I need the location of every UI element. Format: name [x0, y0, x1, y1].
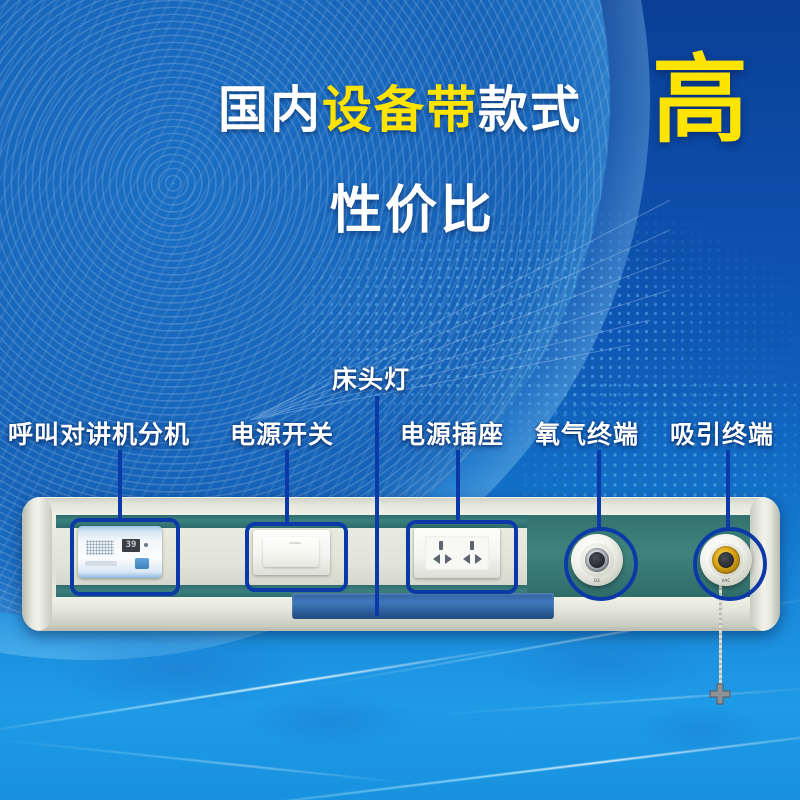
headline-block: 国内设备带款式	[0, 84, 800, 137]
headline-part-1: 国内	[218, 81, 322, 139]
callout-label-bed-lamp: 床头灯	[332, 360, 410, 396]
leader-line-oxygen-terminal	[597, 450, 601, 528]
oxygen-terminal[interactable]: O2	[571, 534, 623, 586]
headline-line-2: 性价比	[330, 168, 495, 243]
headline-part-3: 款式	[478, 81, 582, 139]
intercom-display: 39	[122, 539, 140, 552]
suction-pull-cord[interactable]	[719, 570, 722, 688]
suction-terminal-port[interactable]	[712, 546, 740, 574]
callout-label-power-switch: 电源开关	[230, 415, 334, 451]
panel-end-cap-left	[22, 497, 52, 631]
product-banner: 国内设备带款式 性价比 高 呼叫对讲机分机 电源开关 床头灯 电源插座 氧气终端…	[0, 0, 800, 800]
oxygen-terminal-marking: O2	[571, 578, 623, 583]
nurse-call-intercom[interactable]: 39	[78, 526, 162, 578]
callout-label-nurse-call-intercom: 呼叫对讲机分机	[8, 415, 190, 451]
power-socket[interactable]	[414, 528, 500, 578]
headline-line-1: 国内设备带款式	[0, 84, 800, 137]
callout-label-oxygen-terminal: 氧气终端	[535, 415, 639, 451]
leader-line-power-socket	[456, 450, 460, 522]
oxygen-port-hole-icon	[589, 552, 605, 568]
intercom-speaker-grille-icon	[86, 540, 114, 555]
power-socket-face	[425, 536, 489, 570]
headline-part-2: 设备带	[322, 81, 478, 139]
oxygen-terminal-port[interactable]	[585, 548, 609, 572]
suction-terminal[interactable]: VAC	[700, 534, 752, 586]
power-switch[interactable]	[253, 530, 330, 575]
leader-line-nurse-call-intercom	[118, 450, 122, 520]
power-switch-rocker[interactable]	[263, 537, 319, 567]
leader-line-suction-terminal	[726, 450, 730, 528]
intercom-call-button[interactable]	[135, 558, 149, 569]
pull-cord-handle-icon[interactable]	[704, 678, 736, 710]
intercom-label-strip	[85, 561, 117, 566]
power-switch-marker	[289, 542, 301, 544]
callout-label-power-socket: 电源插座	[400, 415, 504, 451]
leader-line-bed-lamp	[375, 396, 379, 616]
suction-port-hole-icon	[718, 552, 734, 568]
bed-lamp-diffuser-rail	[292, 593, 554, 619]
intercom-indicator-led	[144, 543, 148, 547]
leader-line-power-switch	[285, 450, 289, 524]
panel-end-cap-right	[750, 497, 780, 631]
suction-terminal-marking: VAC	[700, 578, 752, 583]
callout-label-suction-terminal: 吸引终端	[670, 415, 774, 451]
